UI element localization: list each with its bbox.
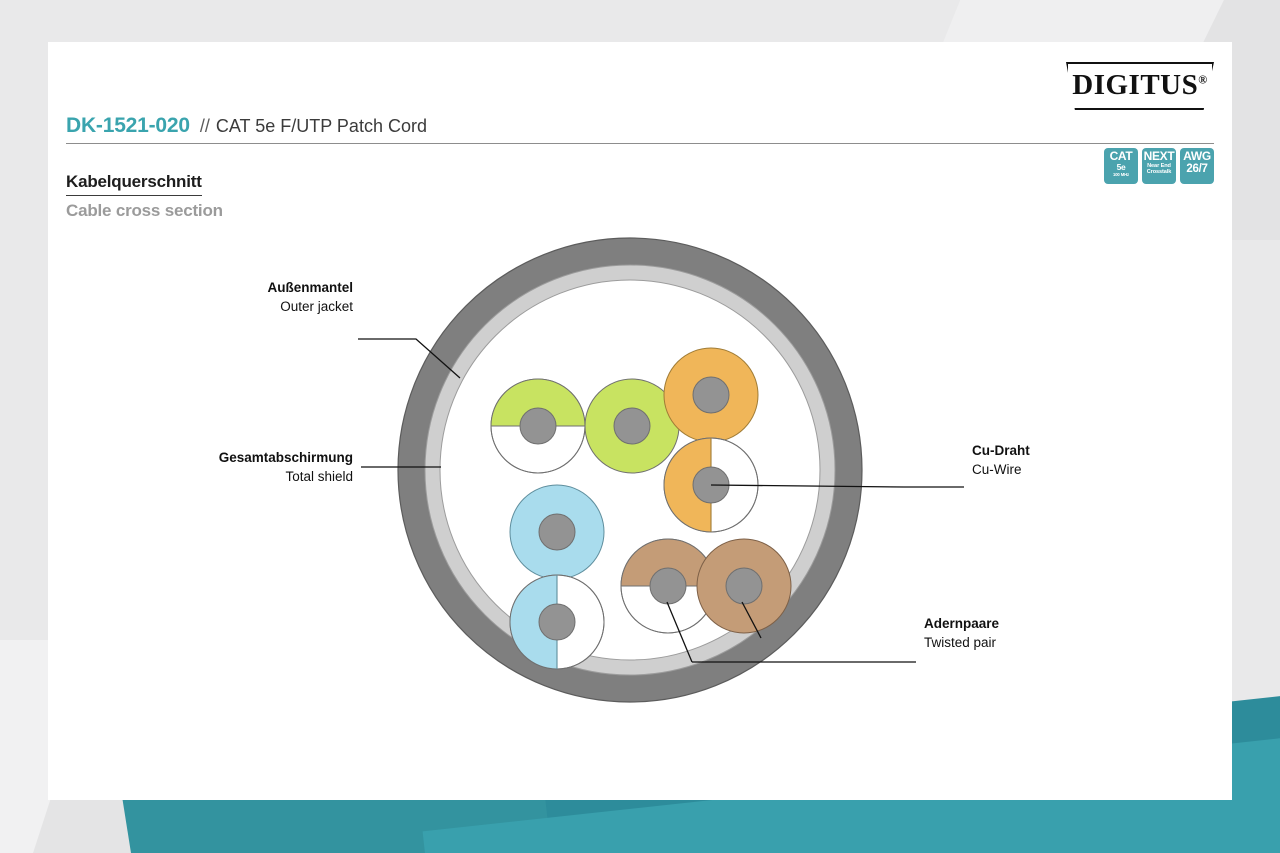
- brown-white-wire-conductor: [650, 568, 686, 604]
- cu-wire-label-de: Cu-Draht: [972, 443, 1030, 458]
- total-shield-label-de: Gesamtabschirmung: [219, 450, 353, 465]
- green-white-wire: [491, 379, 585, 473]
- green-wire-conductor: [614, 408, 650, 444]
- twisted-pair-label-en: Twisted pair: [924, 635, 997, 650]
- twisted-pair-label-de: Adernpaare: [924, 616, 1000, 631]
- cu-wire-label-en: Cu-Wire: [972, 462, 1022, 477]
- blue-white-wire-conductor: [539, 604, 575, 640]
- green-white-wire-conductor: [520, 408, 556, 444]
- orange-wire-conductor: [693, 377, 729, 413]
- blue-wire-conductor: [539, 514, 575, 550]
- cable-cross-section-diagram: Außenmantel Outer jacket Gesamtabschirmu…: [48, 42, 1232, 800]
- blue-wire: [510, 485, 604, 579]
- orange-wire: [664, 348, 758, 442]
- content-card: DIGITUS® DK-1521-020//CAT 5e F/UTP Patch…: [48, 42, 1232, 800]
- brown-wire: [697, 539, 791, 633]
- total-shield-label-en: Total shield: [285, 469, 353, 484]
- blue-white-wire: [510, 575, 604, 669]
- outer-jacket-label-de: Außenmantel: [267, 280, 353, 295]
- outer-jacket-label-en: Outer jacket: [280, 299, 353, 314]
- brown-wire-conductor: [726, 568, 762, 604]
- slide-page: DIGITUS® DK-1521-020//CAT 5e F/UTP Patch…: [0, 0, 1280, 853]
